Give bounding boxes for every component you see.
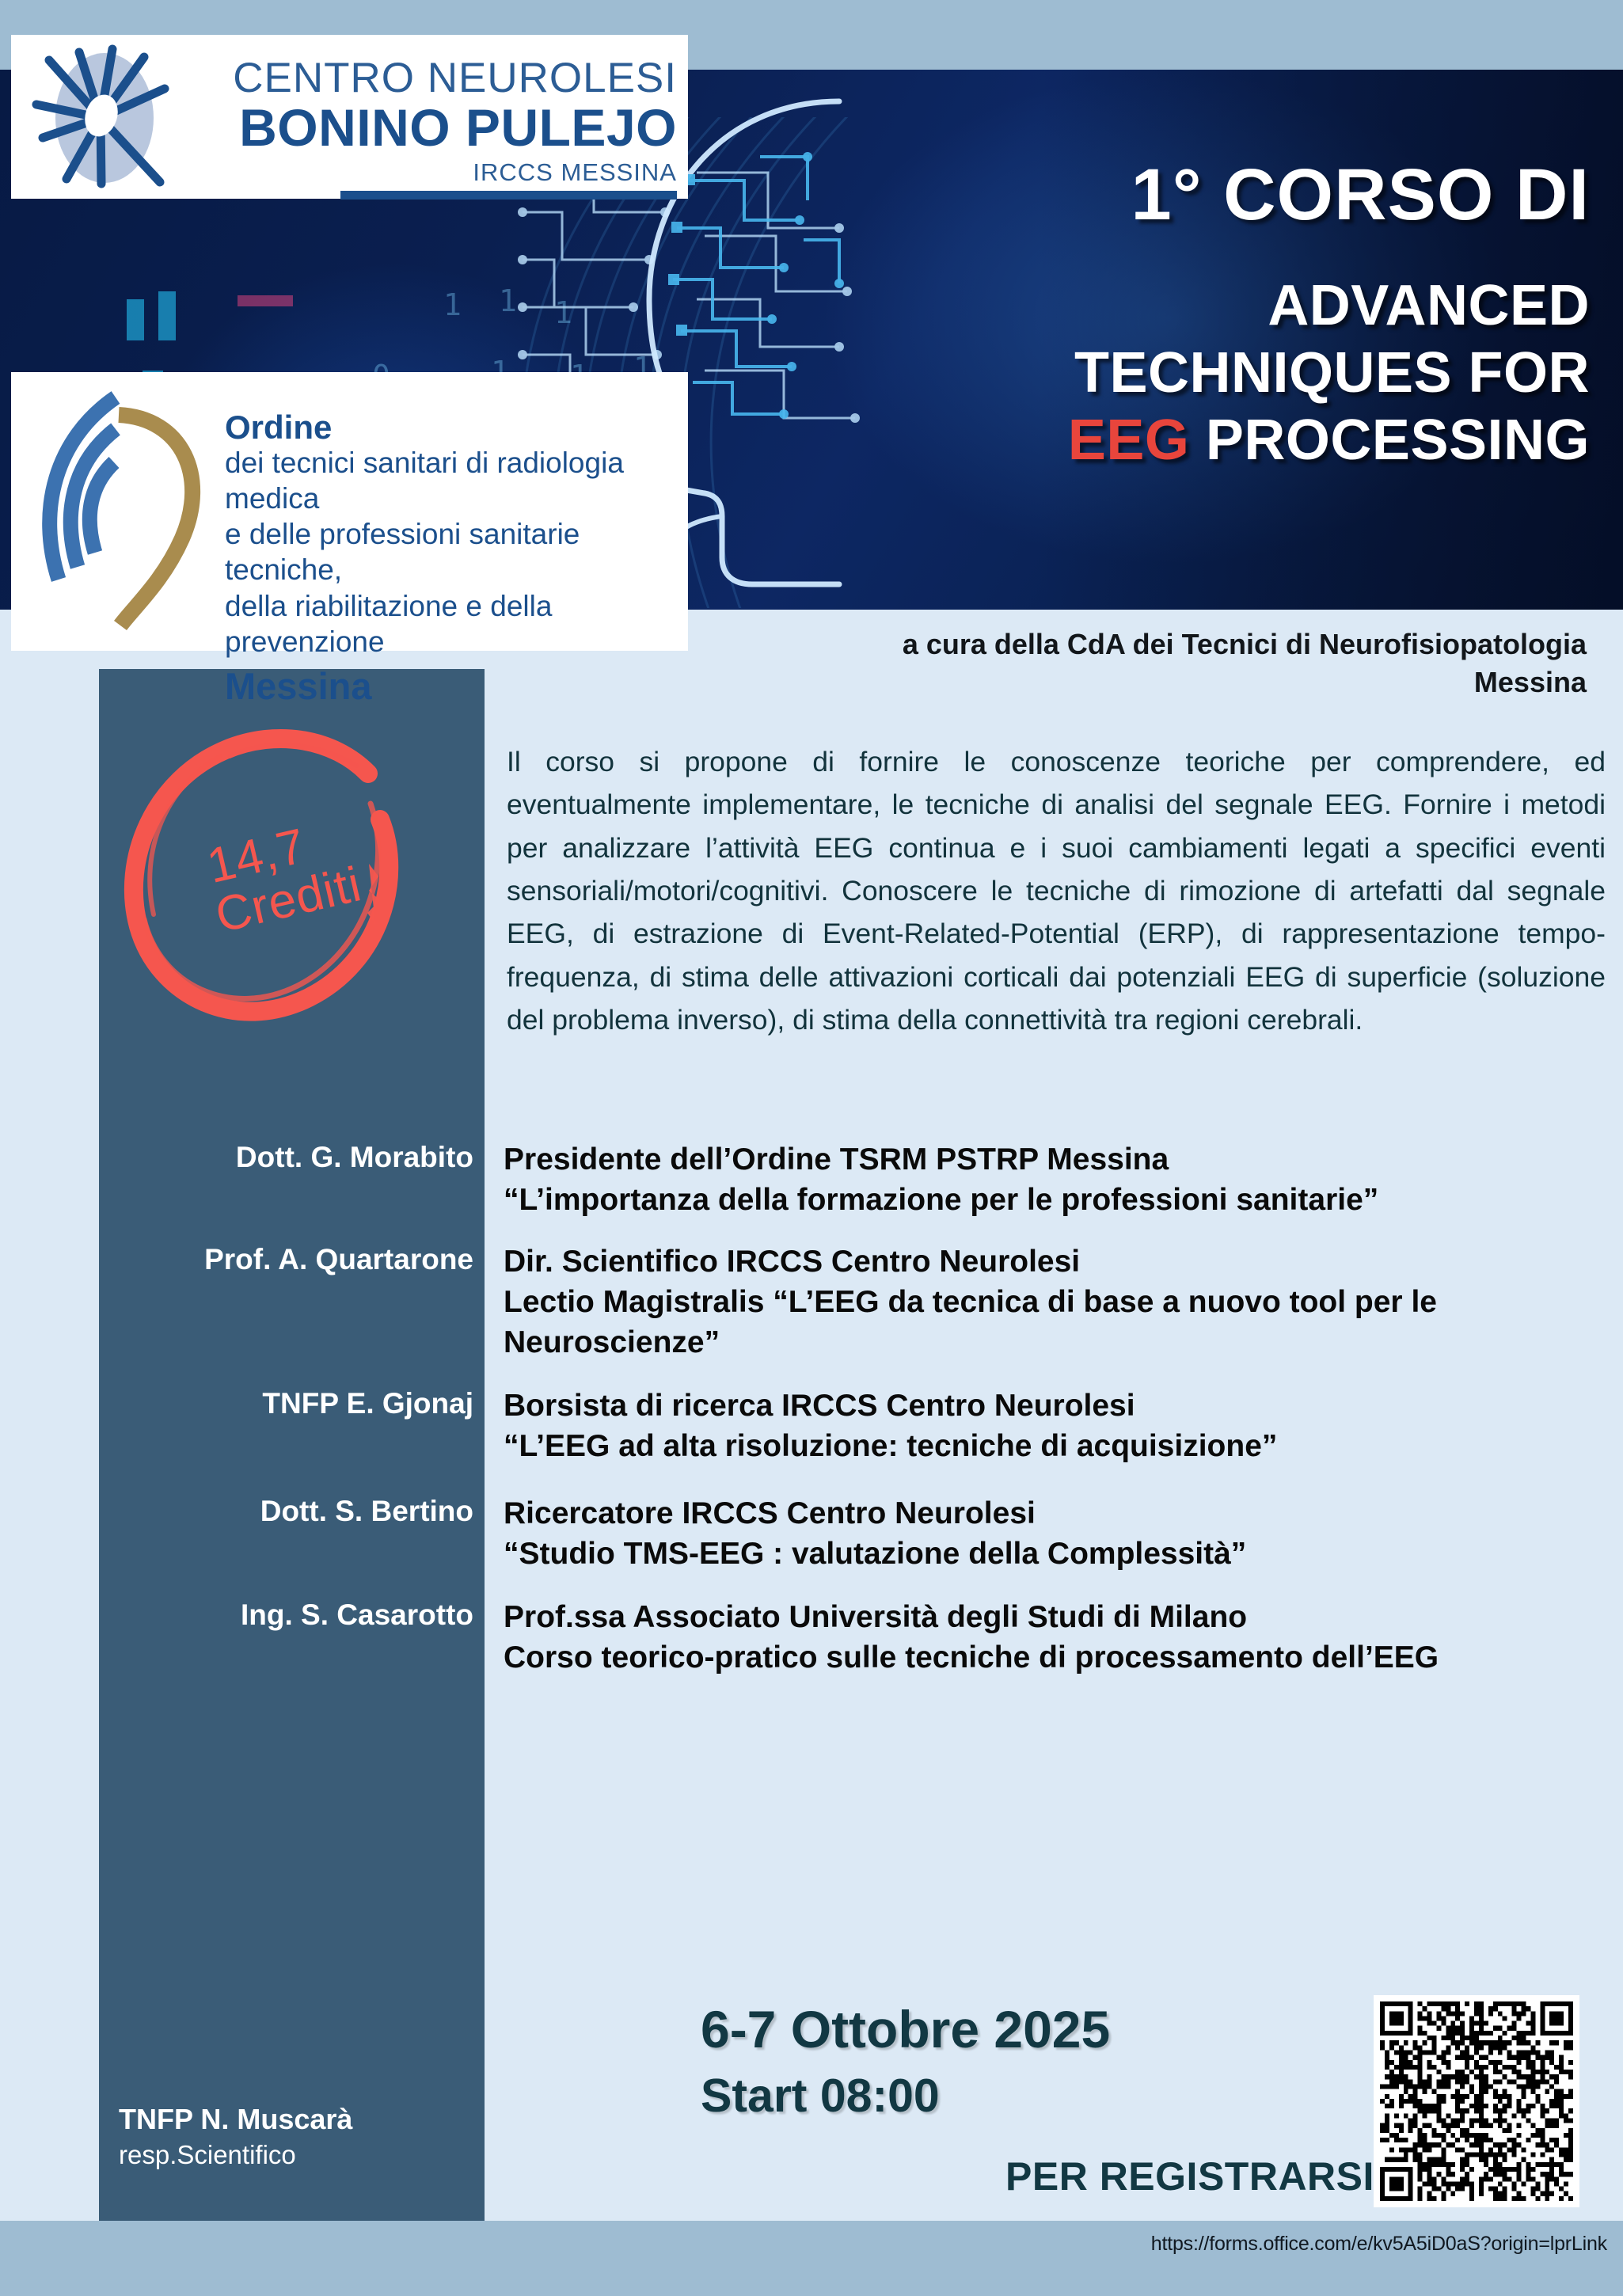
course-title-line2: ADVANCED bbox=[703, 272, 1590, 340]
speaker-talk: “L’importanza della formazione per le pr… bbox=[504, 1183, 1378, 1217]
ordine-head: Ordine bbox=[225, 410, 680, 445]
speaker-role: Prof.ssa Associato Università degli Stud… bbox=[504, 1600, 1247, 1634]
speaker-name: Prof. A. Quartarone bbox=[99, 1242, 485, 1363]
subtitle-line2: Messina bbox=[668, 663, 1587, 701]
course-title-line1: 1° CORSO DI bbox=[703, 158, 1590, 231]
poster-canvas: 111 011 11 100 101 100 00 bbox=[0, 0, 1623, 2296]
speaker-talk: “L’EEG ad alta risoluzione: tecniche di … bbox=[504, 1429, 1277, 1463]
hero-title-group: 1° CORSO DI ADVANCED TECHNIQUES FOR EEG … bbox=[703, 158, 1590, 474]
speaker-details: Prof.ssa Associato Università degli Stud… bbox=[485, 1598, 1623, 1678]
speaker-name: TNFP E. Gjonaj bbox=[99, 1386, 485, 1466]
event-date-block: 6-7 Ottobre 2025 Start 08:00 bbox=[701, 1999, 1110, 2123]
speaker-row: Ing. S. Casarotto Prof.ssa Associato Uni… bbox=[99, 1598, 1623, 1678]
speaker-details: Borsista di ricerca IRCCS Centro Neurole… bbox=[485, 1386, 1623, 1466]
scientific-responsible: TNFP N. Muscarà resp.Scientifico bbox=[119, 2102, 483, 2171]
ordine-swirl-icon bbox=[27, 383, 225, 641]
speaker-details: Dir. Scientifico IRCCS Centro Neurolesi … bbox=[485, 1242, 1623, 1363]
speaker-role: Presidente dell’Ordine TSRM PSTRP Messin… bbox=[504, 1142, 1169, 1177]
speaker-role: Dir. Scientifico IRCCS Centro Neurolesi bbox=[504, 1245, 1080, 1279]
registration-url[interactable]: https://forms.office.com/e/kv5A5iD0aS?or… bbox=[1005, 2233, 1607, 2256]
speaker-details: Presidente dell’Ordine TSRM PSTRP Messin… bbox=[485, 1140, 1623, 1220]
speaker-role: Ricercatore IRCCS Centro Neurolesi bbox=[504, 1496, 1036, 1530]
subtitle-line1: a cura della CdA dei Tecnici di Neurofis… bbox=[668, 625, 1587, 663]
speaker-row: Prof. A. Quartarone Dir. Scientifico IRC… bbox=[99, 1242, 1623, 1363]
ordine-wordmark: Ordine dei tecnici sanitari di radiologi… bbox=[225, 410, 680, 708]
neurolesi-wordmark: CENTRO NEUROLESI BONINO PULEJO IRCCS MES… bbox=[209, 57, 677, 200]
logo-ordine-tsrm: Ordine dei tecnici sanitari di radiologi… bbox=[11, 372, 688, 651]
eeg-highlight: EEG bbox=[1068, 409, 1190, 472]
qr-code[interactable] bbox=[1374, 1995, 1579, 2207]
speaker-row: Dott. S. Bertino Ricercatore IRCCS Centr… bbox=[99, 1494, 1623, 1574]
course-title-line4: EEG PROCESSING bbox=[703, 407, 1590, 474]
speaker-details: Ricercatore IRCCS Centro Neurolesi “Stud… bbox=[485, 1494, 1623, 1574]
event-start-time: Start 08:00 bbox=[701, 2069, 1110, 2124]
qr-code-canvas[interactable] bbox=[1380, 2001, 1573, 2201]
ordine-city: Messina bbox=[225, 664, 680, 708]
responsible-name: TNFP N. Muscarà bbox=[119, 2102, 483, 2136]
register-label: PER REGISTRARSI bbox=[1005, 2153, 1374, 2199]
speaker-name: Dott. S. Bertino bbox=[99, 1494, 485, 1574]
speaker-row: Dott. G. Morabito Presidente dell’Ordine… bbox=[99, 1140, 1623, 1220]
neurolesi-line3: IRCCS MESSINA bbox=[209, 158, 677, 187]
responsible-role: resp.Scientifico bbox=[119, 2139, 483, 2171]
course-title-line3: TECHNIQUES FOR bbox=[703, 340, 1590, 407]
logo-centro-neurolesi: CENTRO NEUROLESI BONINO PULEJO IRCCS MES… bbox=[11, 35, 688, 199]
speaker-row: TNFP E. Gjonaj Borsista di ricerca IRCCS… bbox=[99, 1386, 1623, 1466]
subtitle-block: a cura della CdA dei Tecnici di Neurofis… bbox=[668, 625, 1587, 701]
credits-badge: 14,7 Crediti bbox=[119, 724, 428, 1033]
neuron-icon bbox=[25, 43, 207, 193]
processing-word: PROCESSING bbox=[1189, 409, 1590, 472]
neurolesi-line2: BONINO PULEJO bbox=[209, 101, 677, 155]
course-title-block: ADVANCED TECHNIQUES FOR EEG PROCESSING bbox=[703, 272, 1590, 474]
ordine-line1: dei tecnici sanitari di radiologia medic… bbox=[225, 445, 680, 516]
speaker-talk: Lectio Magistralis “L’EEG da tecnica di … bbox=[504, 1285, 1437, 1359]
svg-text:1: 1 bbox=[443, 287, 462, 322]
speaker-talk: “Studio TMS-EEG : valutazione della Comp… bbox=[504, 1537, 1246, 1571]
event-date: 6-7 Ottobre 2025 bbox=[701, 1999, 1110, 2061]
neurolesi-underline bbox=[340, 191, 677, 200]
neurolesi-line1: CENTRO NEUROLESI bbox=[209, 57, 677, 99]
speaker-name: Ing. S. Casarotto bbox=[99, 1598, 485, 1678]
ordine-line3: della riabilitazione e della prevenzione bbox=[225, 588, 680, 660]
speaker-name: Dott. G. Morabito bbox=[99, 1140, 485, 1220]
ordine-line2: e delle professioni sanitarie tecniche, bbox=[225, 516, 680, 587]
speakers-list: Dott. G. Morabito Presidente dell’Ordine… bbox=[99, 1140, 1623, 1696]
course-description: Il corso si propone di fornire le conosc… bbox=[507, 740, 1606, 1041]
speaker-role: Borsista di ricerca IRCCS Centro Neurole… bbox=[504, 1389, 1135, 1423]
speaker-talk: Corso teorico-pratico sulle tecniche di … bbox=[504, 1640, 1439, 1674]
